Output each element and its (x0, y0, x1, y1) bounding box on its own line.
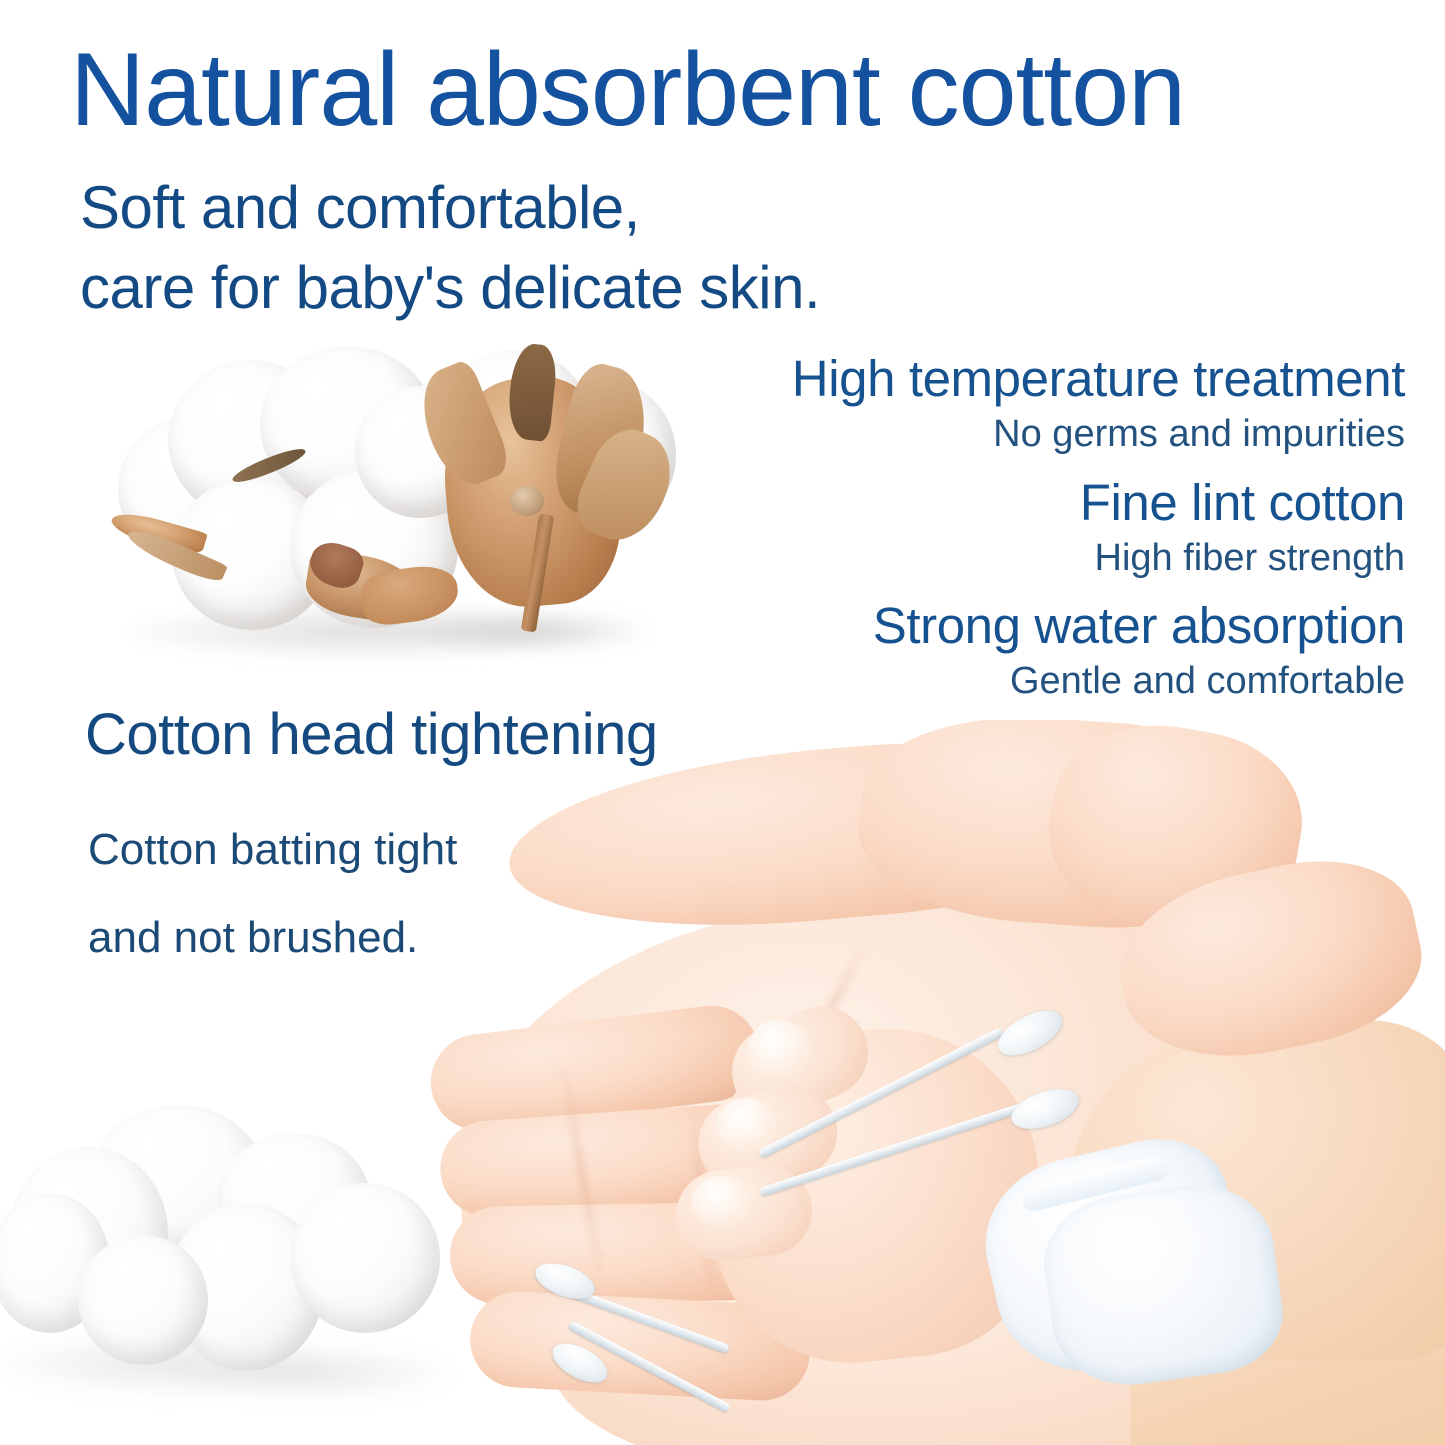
section-title-cotton-head-tightening: Cotton head tightening (85, 706, 658, 764)
feature-title-3: Strong water absorption (685, 599, 1405, 653)
subtitle-line-1: Soft and comfortable, (80, 168, 820, 248)
cotton-boll-photo (110, 338, 690, 678)
baby-hands-with-cotton-swabs-photo (430, 720, 1445, 1445)
feature-title-1: High temperature treatment (685, 352, 1405, 406)
product-marketing-banner: Natural absorbent cotton Soft and comfor… (0, 0, 1445, 1445)
feature-list: High temperature treatment No germs and … (685, 352, 1405, 703)
section-body-line-1: Cotton batting tight (88, 806, 457, 894)
feature-sub-1: No germs and impurities (685, 413, 1405, 456)
cotton-balls-photo (0, 1085, 460, 1445)
section-body-line-2: and not brushed. (88, 894, 457, 982)
page-subtitle: Soft and comfortable, care for baby's de… (80, 168, 820, 329)
page-title: Natural absorbent cotton (70, 38, 1185, 142)
feature-title-2: Fine lint cotton (685, 476, 1405, 530)
feature-sub-2: High fiber strength (685, 537, 1405, 580)
section-body-cotton-head-tightening: Cotton batting tight and not brushed. (88, 806, 457, 982)
subtitle-line-2: care for baby's delicate skin. (80, 248, 820, 328)
feature-sub-3: Gentle and comfortable (685, 660, 1405, 703)
